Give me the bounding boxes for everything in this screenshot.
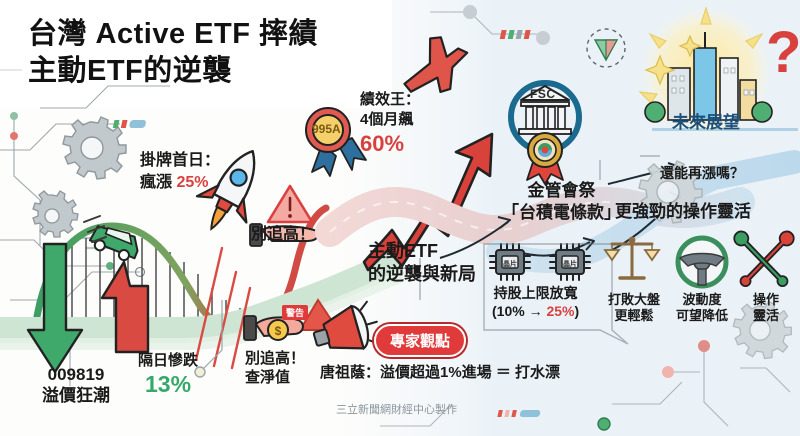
check-nav-line-1: 別追高！ [245, 350, 305, 367]
performance-period: 4個月飆 [360, 111, 413, 128]
expert-view-badge: 專家觀點 [374, 324, 466, 357]
feature-flexible-operation: 操作 靈活 [738, 292, 794, 325]
feature-lower-volatility: 波動度 可望降低 [668, 292, 736, 325]
holding-cap-close: ) [575, 303, 580, 319]
next-day-drop-block: 隔日慘跌 13% [138, 352, 198, 399]
chip-label-2: 晶片 [563, 259, 577, 269]
feature-2-line-2: 可望降低 [676, 308, 728, 323]
feature-1-line-2: 更輕鬆 [614, 308, 653, 323]
feature-1-line-1: 打敗大盤 [608, 292, 660, 307]
fund-code: 009819 [48, 365, 105, 384]
feature-2-line-1: 波動度 [682, 292, 721, 307]
fund-code-block: 009819 溢價狂潮 [42, 364, 110, 407]
next-day-drop-value: 13% [138, 371, 198, 399]
outlook-title: 未來展望 [672, 113, 740, 133]
feature-3-line-1: 操作 [753, 292, 779, 307]
outlook-question: 還能再漲嗎？ [660, 165, 744, 182]
holding-cap-title: 持股上限放寬 [494, 285, 578, 301]
performance-king-title: 績效王： [360, 91, 420, 108]
listing-day-title: 掛牌首日： [140, 152, 220, 169]
main-theme-line-2: 的逆襲與新局 [368, 264, 476, 284]
main-theme-label: 主動ETF 的逆襲與新局 [368, 240, 476, 287]
fsc-regulation-label: 金管會祭 「台積電條款」 [502, 180, 621, 224]
check-nav-line-2: 查淨值 [245, 369, 290, 386]
holding-cap-to: 25% [546, 303, 574, 319]
feature-3-line-2: 靈活 [753, 308, 779, 323]
next-day-drop-label: 隔日慘跌 [138, 352, 198, 369]
fsc-abbreviation: FSC [530, 87, 556, 101]
title-line-1: 台灣 Active ETF 摔績 [28, 18, 318, 50]
holding-cap-from: (10% → [492, 303, 546, 319]
listing-surge-value: 25% [176, 174, 208, 191]
listing-day-label: 掛牌首日： 瘋漲 25% [140, 152, 220, 193]
main-theme-line-1: 主動ETF [368, 241, 438, 261]
warning-tag: 警告 [282, 305, 308, 320]
performance-value: 60% [360, 130, 420, 159]
performance-king-label: 績效王： 4個月飆 60% [360, 90, 420, 159]
no-chase-warning-1: 別追高！ [251, 226, 315, 245]
infographic-canvas: $ [0, 0, 800, 436]
holding-cap-label: 持股上限放寬 (10% → 25%) [492, 284, 579, 320]
expert-quote: 唐祖蔭：溢價超過1%進場 ＝ 打水漂 [320, 364, 560, 382]
fsc-regulation-line-1: 金管會祭 [528, 181, 596, 200]
page-title: 台灣 Active ETF 摔績主動ETF的逆襲 [28, 16, 318, 90]
listing-surge-prefix: 瘋漲 [140, 174, 176, 191]
check-nav-warning: 別追高！ 查淨值 [245, 350, 305, 388]
credit-line: 三立新聞網財經中心製作 [336, 404, 457, 417]
rosette-label: 995A [312, 122, 341, 136]
fund-caption: 溢價狂潮 [42, 386, 110, 405]
flexibility-title: 更強勁的操作靈活 [615, 202, 751, 222]
feature-beat-market: 打敗大盤 更輕鬆 [600, 292, 668, 325]
title-line-2: 主動ETF的逆襲 [28, 55, 232, 87]
fsc-regulation-line-2: 「台積電條款」 [502, 203, 621, 222]
chip-label-1: 晶片 [503, 259, 517, 269]
